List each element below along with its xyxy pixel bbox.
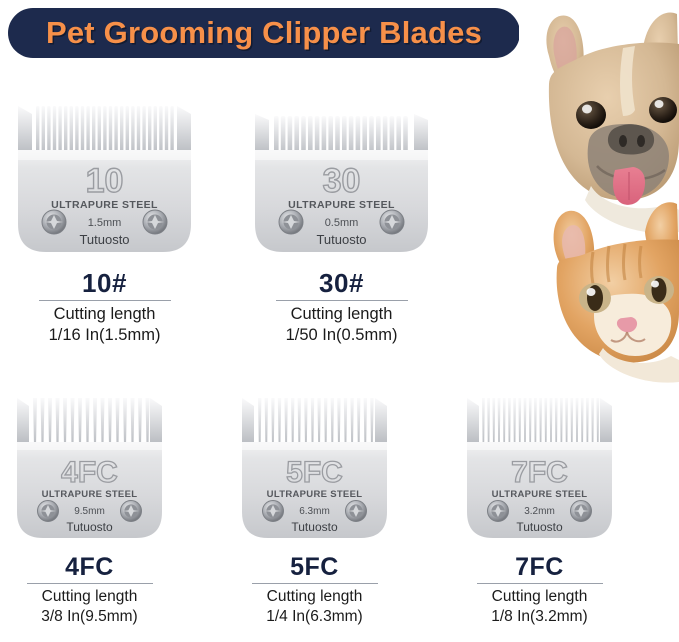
blade-caption-label: Cutting length	[267, 587, 363, 607]
clipper-blade-icon: 30 ULTRAPURE STEEL 0.5mm Tutuosto	[249, 92, 434, 264]
blade-card-4fc[interactable]: 4FC ULTRAPURE STEEL 9.5mm Tutuosto 4FC	[12, 388, 167, 627]
blade-caption-value: 1/16 In(1.5mm)	[49, 325, 161, 346]
blade-screw-left	[38, 501, 59, 522]
blade-brand-text: Tutuosto	[516, 520, 563, 534]
blade-caption-title: 30#	[319, 270, 364, 297]
clipper-blade-icon: 4FC ULTRAPURE STEEL 9.5mm Tutuosto	[12, 388, 167, 548]
blade-engraved-size: 7FC	[511, 456, 568, 489]
blade-caption-title: 10#	[82, 270, 127, 297]
blade-material-text: ULTRAPURE STEEL	[288, 199, 395, 211]
blade-caption-title: 5FC	[290, 554, 339, 580]
blade-screw-left	[488, 501, 509, 522]
blade-screw-left	[263, 501, 284, 522]
blade-caption-label: Cutting length	[42, 587, 138, 607]
blade-screw-left	[42, 210, 66, 234]
blade-card-30[interactable]: 30 ULTRAPURE STEEL 0.5mm Tutuosto 30#	[249, 92, 434, 347]
blade-card-5fc[interactable]: 5FC ULTRAPURE STEEL 6.3mm Tutuosto 5FC	[237, 388, 392, 627]
blade-caption-value: 1/8 In(3.2mm)	[491, 607, 587, 627]
blade-engraved-size: 30	[323, 162, 361, 200]
blade-card-7fc[interactable]: 7FC ULTRAPURE STEEL 3.2mm Tutuosto 7FC	[462, 388, 617, 627]
blade-material-text: ULTRAPURE STEEL	[42, 489, 138, 500]
caption-divider	[276, 300, 408, 301]
blade-caption-label: Cutting length	[291, 304, 393, 325]
clipper-blade-icon: 7FC ULTRAPURE STEEL 3.2mm Tutuosto	[462, 388, 617, 548]
blade-caption: 30# Cutting length 1/50 In(0.5mm)	[249, 270, 434, 347]
blade-caption-title: 7FC	[515, 554, 564, 580]
caption-divider	[39, 300, 171, 301]
blade-material-text: ULTRAPURE STEEL	[267, 489, 363, 500]
blade-mm-text: 0.5mm	[325, 217, 359, 229]
blade-screw-right	[143, 210, 167, 234]
blade-card-10[interactable]: 10 ULTRAPURE STEEL 1.5mm Tutuosto 10#	[12, 92, 197, 347]
blade-engraved-size: 10	[86, 162, 124, 200]
clipper-blade-icon: 5FC ULTRAPURE STEEL 6.3mm Tutuosto	[237, 388, 392, 548]
blade-material-text: ULTRAPURE STEEL	[51, 199, 158, 211]
blade-caption: 4FC Cutting length 3/8 In(9.5mm)	[12, 554, 167, 627]
caption-divider	[27, 583, 153, 584]
blade-caption-value: 1/4 In(6.3mm)	[266, 607, 362, 627]
blade-row-top: 10 ULTRAPURE STEEL 1.5mm Tutuosto 10#	[12, 92, 452, 347]
blade-material-text: ULTRAPURE STEEL	[492, 489, 588, 500]
blade-image-5fc: 5FC ULTRAPURE STEEL 6.3mm Tutuosto	[237, 388, 392, 548]
caption-divider	[252, 583, 378, 584]
caption-divider	[477, 583, 603, 584]
blade-image-4fc: 4FC ULTRAPURE STEEL 9.5mm Tutuosto	[12, 388, 167, 548]
blade-mm-text: 6.3mm	[299, 506, 330, 517]
blade-mm-text: 9.5mm	[74, 506, 105, 517]
clipper-blade-icon: 10 ULTRAPURE STEEL 1.5mm Tutuosto	[12, 92, 197, 264]
blade-image-30: 30 ULTRAPURE STEEL 0.5mm Tutuosto	[249, 92, 434, 264]
title-banner: Pet Grooming Clipper Blades	[8, 8, 520, 58]
blade-engraved-size: 5FC	[286, 456, 343, 489]
blade-caption-label: Cutting length	[492, 587, 588, 607]
blade-caption: 7FC Cutting length 1/8 In(3.2mm)	[462, 554, 617, 627]
dog-left-eye	[576, 101, 606, 129]
blade-caption-value: 1/50 In(0.5mm)	[286, 325, 398, 346]
blade-screw-left	[279, 210, 303, 234]
blade-row-bottom: 4FC ULTRAPURE STEEL 9.5mm Tutuosto 4FC	[12, 388, 672, 627]
blade-image-7fc: 7FC ULTRAPURE STEEL 3.2mm Tutuosto	[462, 388, 617, 548]
blade-mm-text: 3.2mm	[524, 506, 555, 517]
blade-image-10: 10 ULTRAPURE STEEL 1.5mm Tutuosto	[12, 92, 197, 264]
blade-screw-right	[121, 501, 142, 522]
blade-brand-text: Tutuosto	[291, 520, 338, 534]
blade-screw-right	[346, 501, 367, 522]
blade-caption: 10# Cutting length 1/16 In(1.5mm)	[12, 270, 197, 347]
dog-right-eye	[649, 97, 677, 123]
blade-caption-value: 3/8 In(9.5mm)	[41, 607, 137, 627]
blade-screw-right	[571, 501, 592, 522]
blade-brand-text: Tutuosto	[316, 232, 366, 247]
blade-brand-text: Tutuosto	[79, 232, 129, 247]
dog-and-cat-illustration	[519, 0, 679, 385]
blade-brand-text: Tutuosto	[66, 520, 113, 534]
blade-caption-title: 4FC	[65, 554, 114, 580]
page-title: Pet Grooming Clipper Blades	[46, 15, 482, 51]
blade-caption-label: Cutting length	[54, 304, 156, 325]
blade-caption: 5FC Cutting length 1/4 In(6.3mm)	[237, 554, 392, 627]
blade-mm-text: 1.5mm	[88, 217, 122, 229]
blade-engraved-size: 4FC	[61, 456, 118, 489]
blade-screw-right	[380, 210, 404, 234]
pets-photo	[519, 0, 679, 385]
